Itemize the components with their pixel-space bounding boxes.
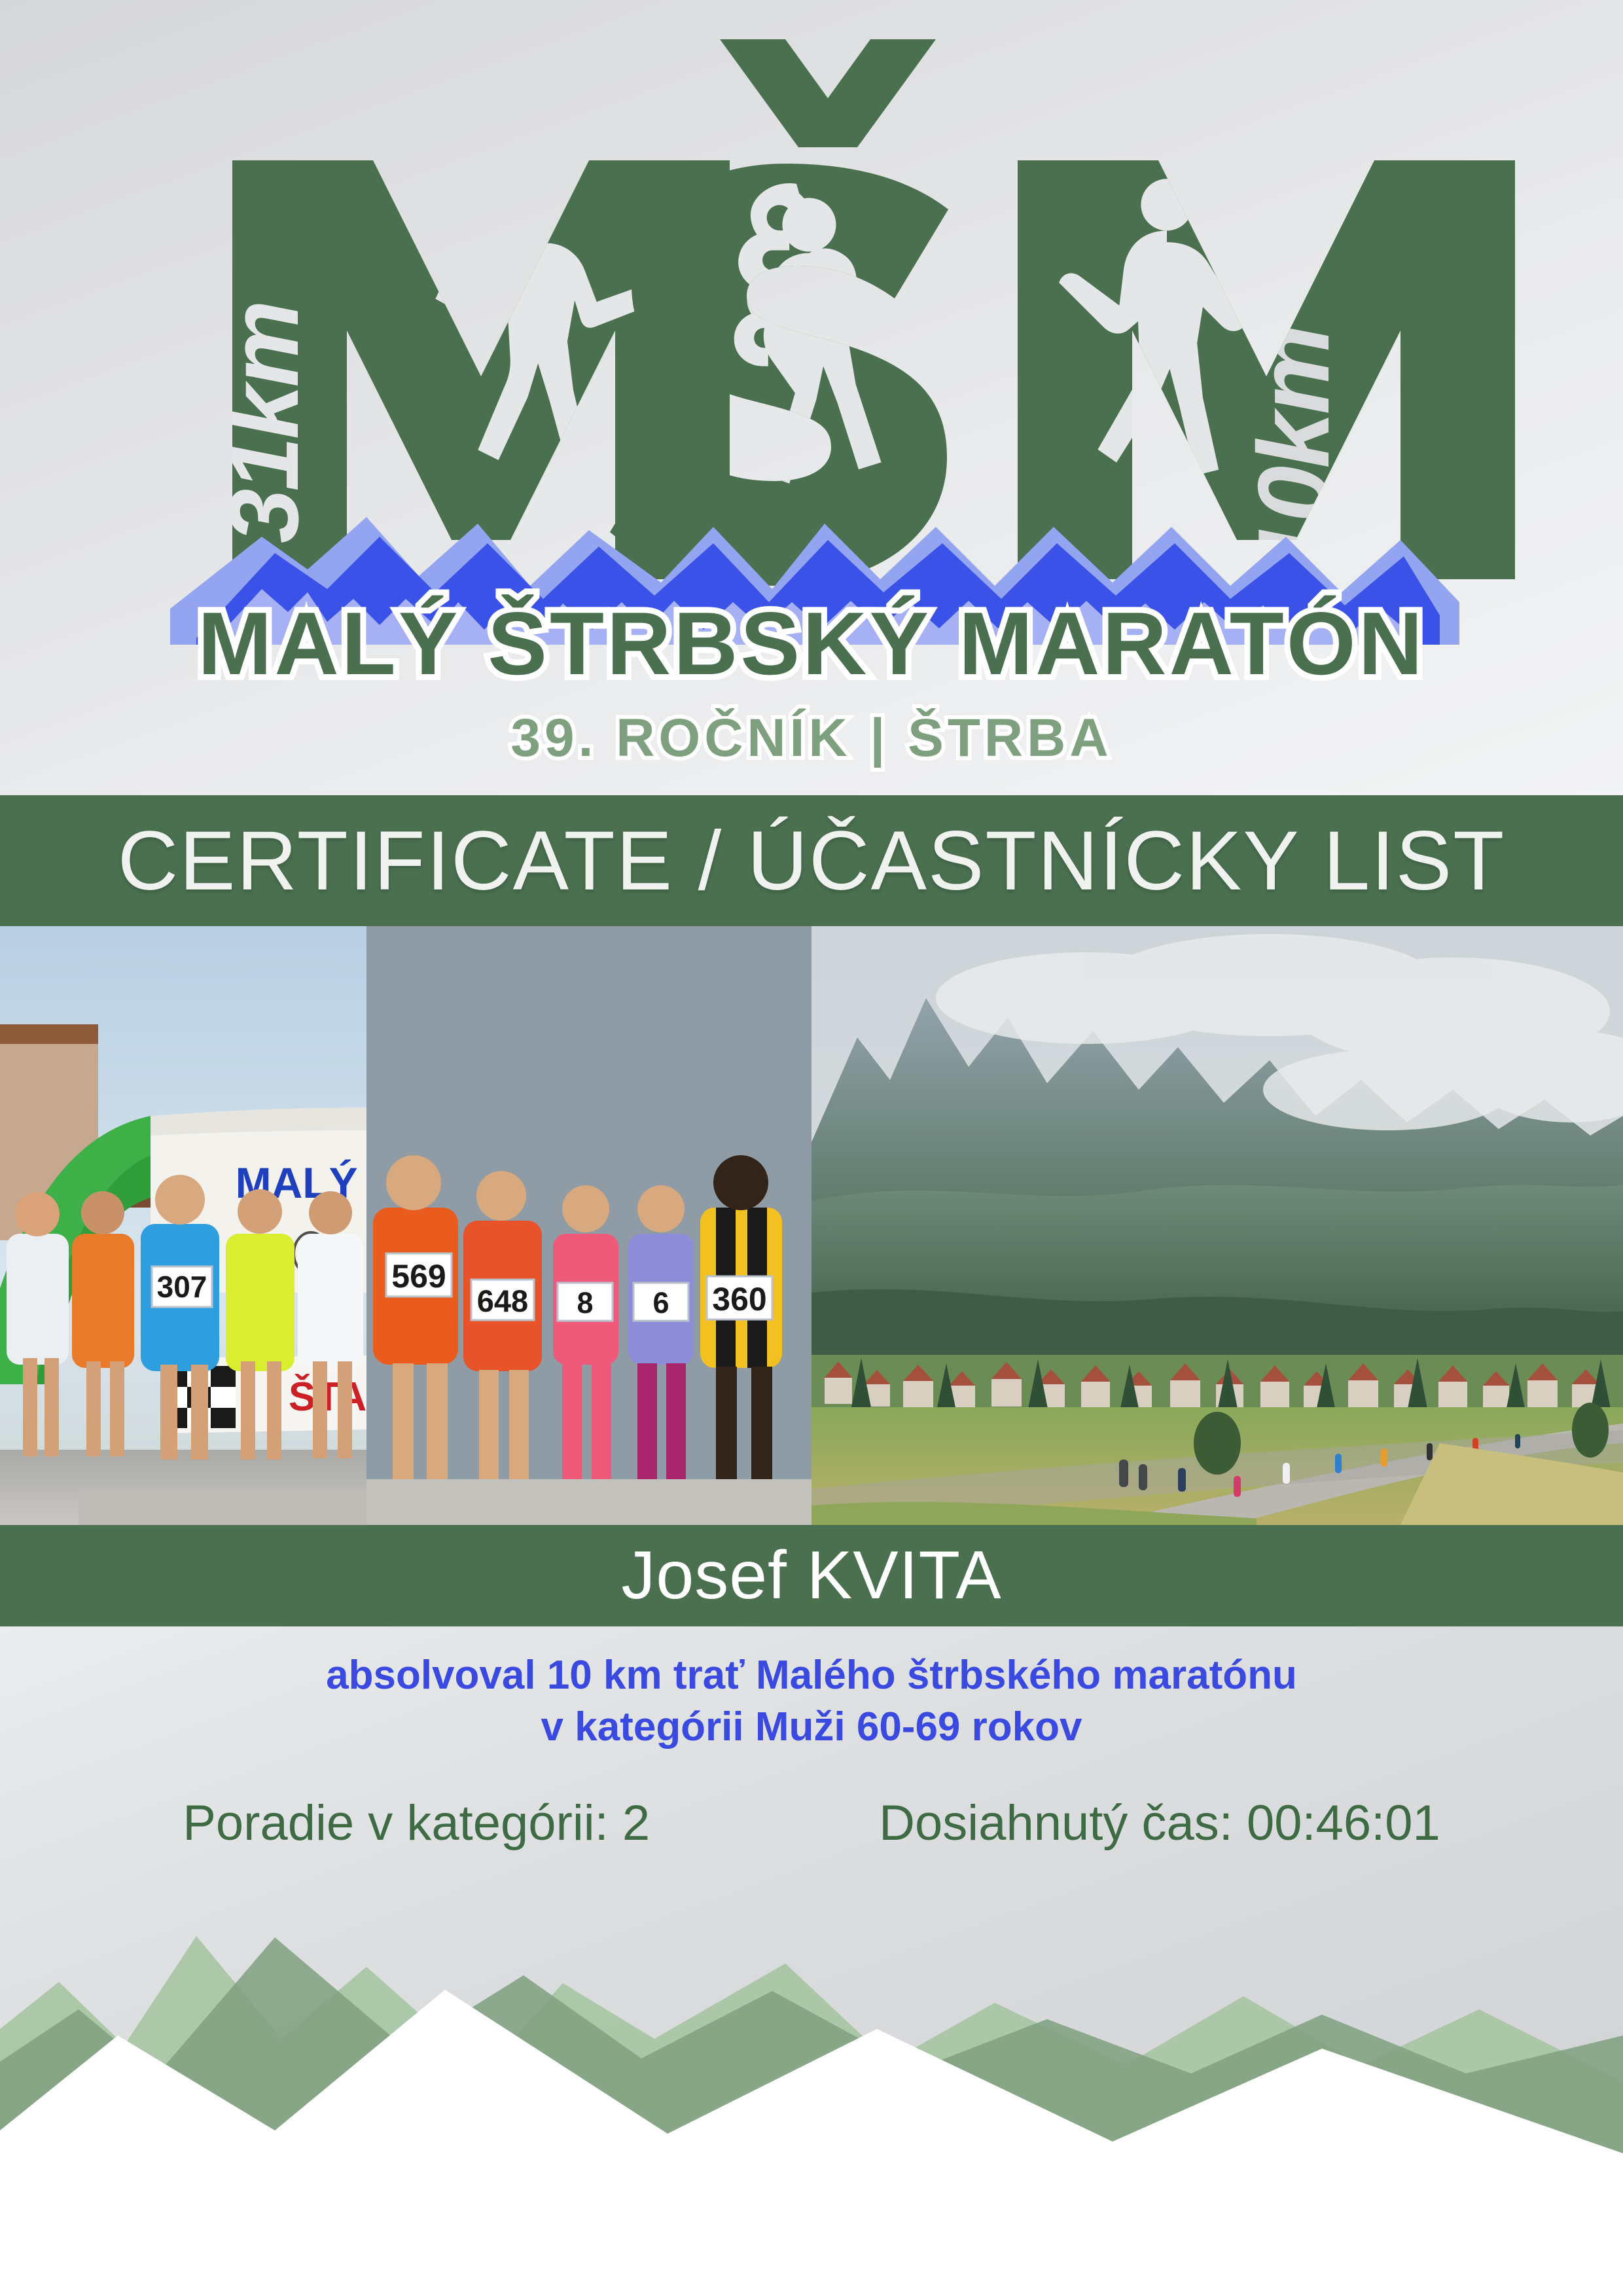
svg-text:31km: 31km — [209, 302, 319, 543]
bib-number: 360 — [712, 1281, 766, 1318]
event-logo-block: 31km — [0, 0, 1623, 792]
logo-letter-s-center — [610, 39, 948, 586]
bib-number: 569 — [391, 1258, 446, 1295]
certificate-page: 31km — [0, 0, 1623, 2296]
logo-title-text: MALÝ ŠTRBSKÝ MARATÓN — [198, 594, 1425, 693]
logo-letter-m-right: 10km — [1018, 160, 1515, 579]
photo-tatras-landscape — [811, 926, 1623, 1525]
bib-number: 6 — [652, 1286, 669, 1319]
finish-time: Dosiahnutý čas: 00:46:01 — [879, 1795, 1440, 1852]
photo-strip: MALÝ ŠTRBSKÝ MARATÓN — [0, 926, 1623, 1525]
photo-runners-group: 569 648 8 6 — [366, 926, 811, 1525]
bib-number: 307 — [157, 1270, 207, 1304]
participant-name-banner: Josef KVITA — [0, 1525, 1623, 1626]
certificate-title-banner: CERTIFICATE / ÚČASTNÍCKY LIST — [0, 795, 1623, 926]
achievement-text: absolvoval 10 km trať Malého štrbského m… — [0, 1649, 1623, 1753]
msm-logo-svg: 31km — [0, 0, 1623, 792]
category-rank: Poradie v kategórii: 2 — [183, 1795, 650, 1852]
achievement-line-2: v kategórii Muži 60-69 rokov — [0, 1701, 1623, 1753]
certificate-title: CERTIFICATE / ÚČASTNÍCKY LIST — [118, 813, 1506, 909]
results-row: Poradie v kategórii: 2 Dosiahnutý čas: 0… — [0, 1795, 1623, 1852]
bib-number: 648 — [477, 1283, 528, 1318]
logo-subtitle-text: 39. ROČNÍK | ŠTRBA — [510, 708, 1112, 768]
achievement-line-1: absolvoval 10 km trať Malého štrbského m… — [0, 1649, 1623, 1701]
certificate-footer: V Štrbe 10. júla 2016 — [0, 2003, 1623, 2296]
bib-number: 8 — [577, 1286, 593, 1319]
participant-name: Josef KVITA — [621, 1537, 1001, 1615]
svg-text:10km: 10km — [1237, 327, 1350, 576]
